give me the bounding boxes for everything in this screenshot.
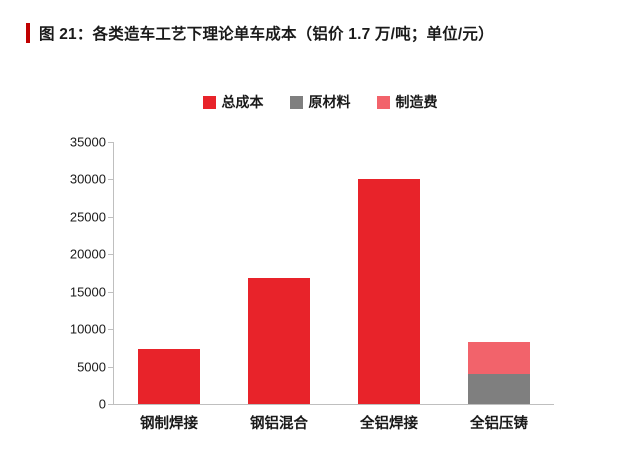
title-label: 图 21：各类造车工艺下理论单车成本（铝价 1.7 万/吨；单位/元） bbox=[39, 22, 494, 44]
bar-segment bbox=[358, 179, 420, 404]
chart-legend: 总成本 原材料 制造费 bbox=[0, 92, 640, 112]
y-tick-label: 10000 bbox=[70, 322, 106, 337]
bar-group bbox=[468, 342, 530, 404]
y-tick-label: 35000 bbox=[70, 135, 106, 150]
legend-item-raw: 原材料 bbox=[290, 92, 351, 112]
bar-segment bbox=[468, 374, 530, 404]
x-axis-label: 全铝压铸 bbox=[439, 412, 559, 433]
y-axis: 05000100001500020000250003000035000 bbox=[42, 142, 106, 404]
legend-swatch-total-icon bbox=[203, 96, 216, 109]
title-accent-bar bbox=[26, 23, 30, 43]
legend-item-manufacturing: 制造费 bbox=[377, 92, 438, 112]
legend-item-total: 总成本 bbox=[203, 92, 264, 112]
legend-label-raw: 原材料 bbox=[309, 92, 351, 112]
chart-area: 05000100001500020000250003000035000 钢制焊接… bbox=[0, 128, 640, 448]
legend-label-total: 总成本 bbox=[222, 92, 264, 112]
x-axis-line bbox=[113, 404, 554, 405]
y-tick-label: 15000 bbox=[70, 284, 106, 299]
chart-page: 图 21：各类造车工艺下理论单车成本（铝价 1.7 万/吨；单位/元） 总成本 … bbox=[0, 0, 640, 459]
y-tick-label: 20000 bbox=[70, 247, 106, 262]
legend-swatch-manufacturing-icon bbox=[377, 96, 390, 109]
y-tick-label: 0 bbox=[99, 397, 106, 412]
x-axis-label: 全铝焊接 bbox=[329, 412, 449, 433]
y-tick-label: 5000 bbox=[77, 359, 106, 374]
y-tick-label: 30000 bbox=[70, 172, 106, 187]
x-axis-label: 钢制焊接 bbox=[109, 412, 229, 433]
bar-segment bbox=[248, 278, 310, 404]
chart-title: 图 21：各类造车工艺下理论单车成本（铝价 1.7 万/吨；单位/元） bbox=[26, 22, 494, 44]
bar-segment bbox=[468, 342, 530, 374]
legend-label-manufacturing: 制造费 bbox=[396, 92, 438, 112]
legend-swatch-raw-icon bbox=[290, 96, 303, 109]
bar-group bbox=[248, 278, 310, 404]
x-axis-labels: 钢制焊接钢铝混合全铝焊接全铝压铸 bbox=[114, 412, 554, 446]
bar-group bbox=[358, 179, 420, 404]
x-axis-label: 钢铝混合 bbox=[219, 412, 339, 433]
y-tick-label: 25000 bbox=[70, 209, 106, 224]
plot-bars bbox=[114, 142, 554, 404]
bar-group bbox=[138, 349, 200, 404]
bar-segment bbox=[138, 349, 200, 404]
